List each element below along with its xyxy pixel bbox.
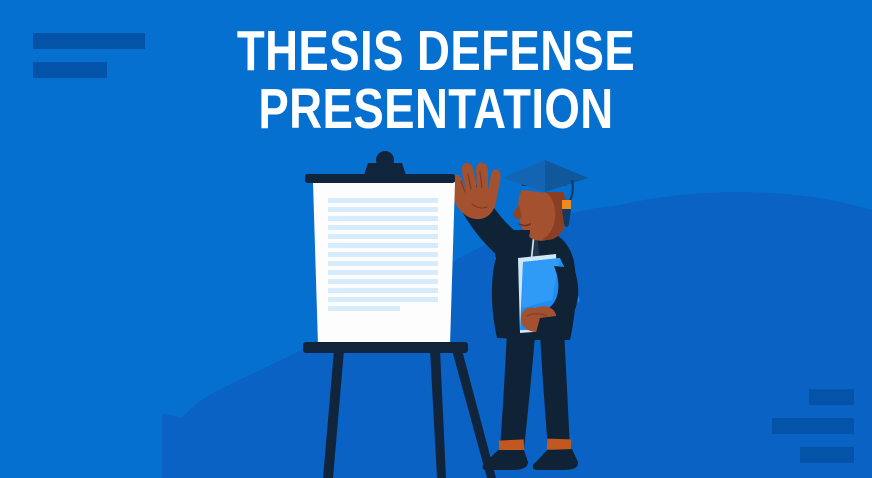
- board-line: [328, 252, 438, 257]
- illustration-student-presenting: [0, 0, 872, 478]
- sock-left: [499, 439, 525, 451]
- sock-right: [547, 439, 571, 451]
- board-line: [328, 198, 438, 203]
- whiteboard-group: [303, 151, 468, 353]
- leg-right: [540, 330, 570, 450]
- board-line: [328, 243, 438, 248]
- board-line: [328, 297, 438, 302]
- board-top-frame: [305, 174, 455, 183]
- board-line: [328, 234, 438, 239]
- board-line: [328, 261, 438, 266]
- shoe-right: [533, 449, 578, 470]
- board-line: [328, 279, 438, 284]
- board-line: [328, 225, 438, 230]
- board-line-last: [328, 306, 400, 311]
- mortarboard-shadow: [545, 160, 588, 192]
- board-line: [328, 207, 438, 212]
- person-group: [482, 160, 588, 470]
- board-knob: [376, 151, 394, 169]
- easel-leg-left: [323, 350, 344, 478]
- leg-left: [500, 330, 535, 450]
- board-line: [328, 288, 438, 293]
- board-line: [328, 216, 438, 221]
- presentation-slide: THESIS DEFENSE PRESENTATION: [0, 0, 872, 478]
- tassel-band: [562, 200, 571, 209]
- board-line: [328, 270, 438, 275]
- easel-crossbar: [303, 342, 468, 353]
- easel-leg-center: [430, 350, 446, 478]
- easel-legs: [323, 350, 496, 478]
